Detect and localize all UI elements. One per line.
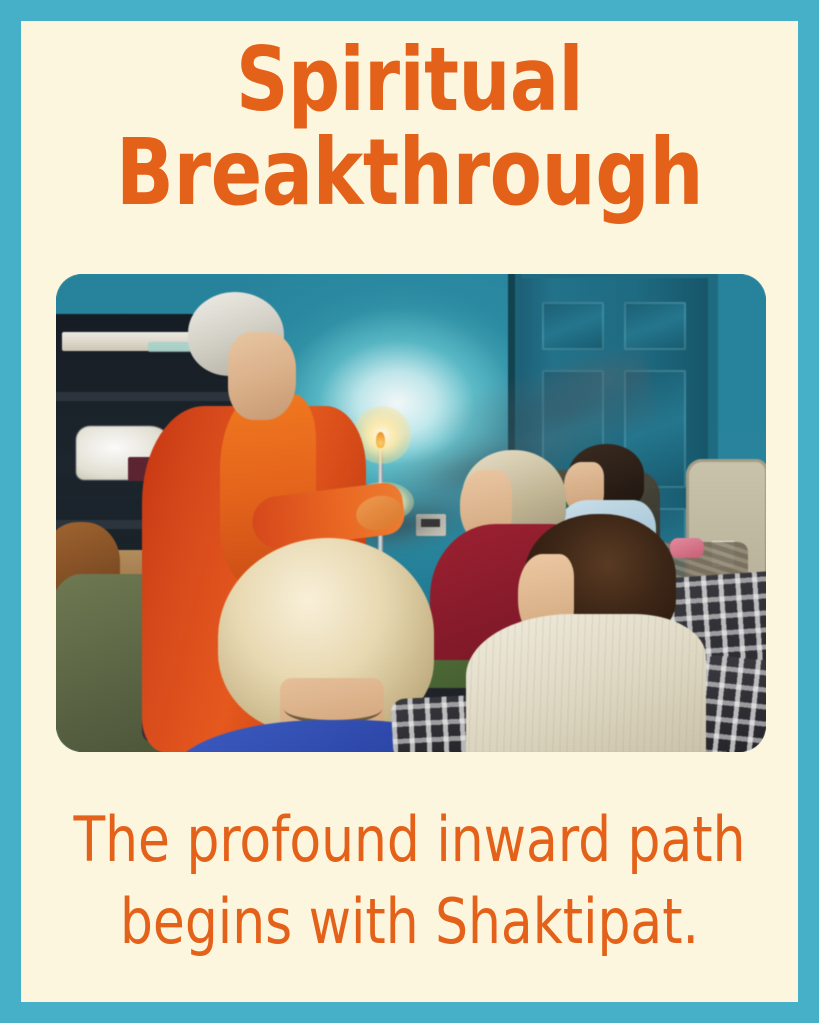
poster-frame: Spiritual Breakthrough [0,0,819,1023]
door-panel [542,302,604,350]
sweater-knit-texture [466,614,706,752]
caption-line-2: begins with Shaktipat. [48,881,771,963]
page-title: Spiritual Breakthrough [52,35,767,220]
page-title-line-2: Breakthrough [52,126,767,221]
caption-line-1: The profound inward path [48,799,771,881]
pink-folded-item [670,538,704,558]
poster-card: Spiritual Breakthrough [21,21,798,1002]
event-photo [56,274,766,752]
caption: The profound inward path begins with Sha… [48,799,771,964]
teacher-face [228,332,296,420]
flame-icon [376,432,385,448]
page-title-line-1: Spiritual [52,35,767,126]
